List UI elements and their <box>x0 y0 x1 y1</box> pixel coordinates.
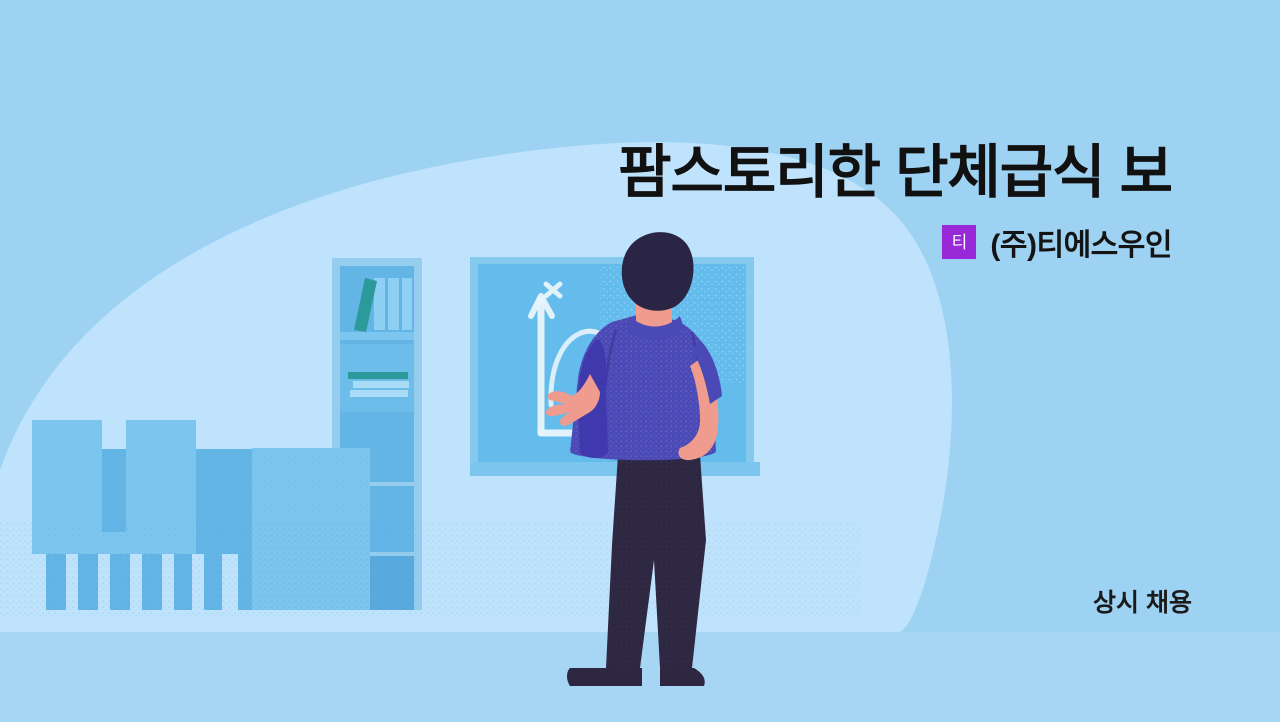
hiring-status-label: 상시 채용 <box>1093 583 1192 619</box>
office-illustration <box>0 0 1280 722</box>
ground-speckle-texture <box>0 520 860 616</box>
company-row: 티 (주)티에스우인 <box>942 220 1172 264</box>
job-posting-banner: 팜스토리한 단체급식 보 티 (주)티에스우인 상시 채용 <box>0 0 1280 722</box>
company-name: (주)티에스우인 <box>990 220 1172 264</box>
company-badge: 티 <box>942 225 976 259</box>
page-title: 팜스토리한 단체급식 보 <box>0 138 1172 208</box>
